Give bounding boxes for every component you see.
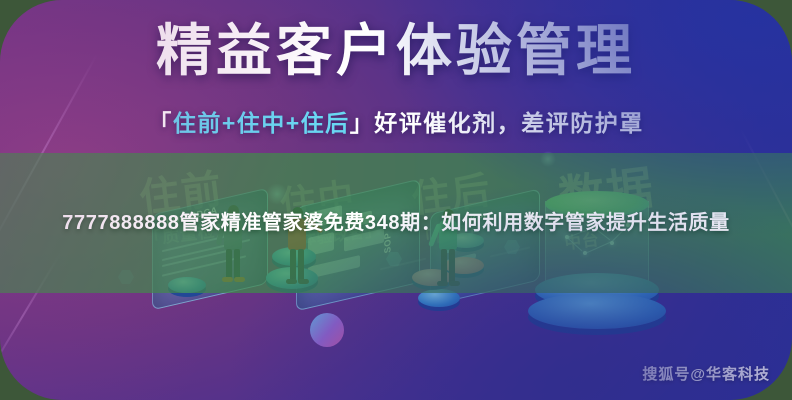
overlay-band: 7777888888管家精准管家婆免费348期：如何利用数字管家提升生活质量 bbox=[0, 153, 792, 293]
gradient-orb bbox=[310, 313, 344, 347]
banner-title: 精益客户体验管理 bbox=[0, 22, 792, 81]
watermark: 搜狐号@华客科技 bbox=[642, 363, 770, 384]
overlay-headline: 7777888888管家精准管家婆免费348期：如何利用数字管家提升生活质量 bbox=[38, 208, 754, 239]
subtitle-rest: 好评催化剂，差评防护罩 bbox=[374, 110, 644, 136]
screenshot-stage: 住前 「质量检查」 住中 「体验改善」 住后 「管理」 数据 中台 VOC PD… bbox=[0, 0, 792, 400]
subtitle-close-bracket: 」 bbox=[350, 110, 375, 136]
banner-card: 住前 「质量检查」 住中 「体验改善」 住后 「管理」 数据 中台 VOC PD… bbox=[0, 0, 792, 400]
subtitle-open-bracket: 「 bbox=[148, 110, 173, 136]
subtitle-highlight: 住前+住中+住后 bbox=[173, 110, 350, 136]
banner-subtitle: 「住前+住中+住后」好评催化剂，差评防护罩 bbox=[0, 104, 792, 138]
